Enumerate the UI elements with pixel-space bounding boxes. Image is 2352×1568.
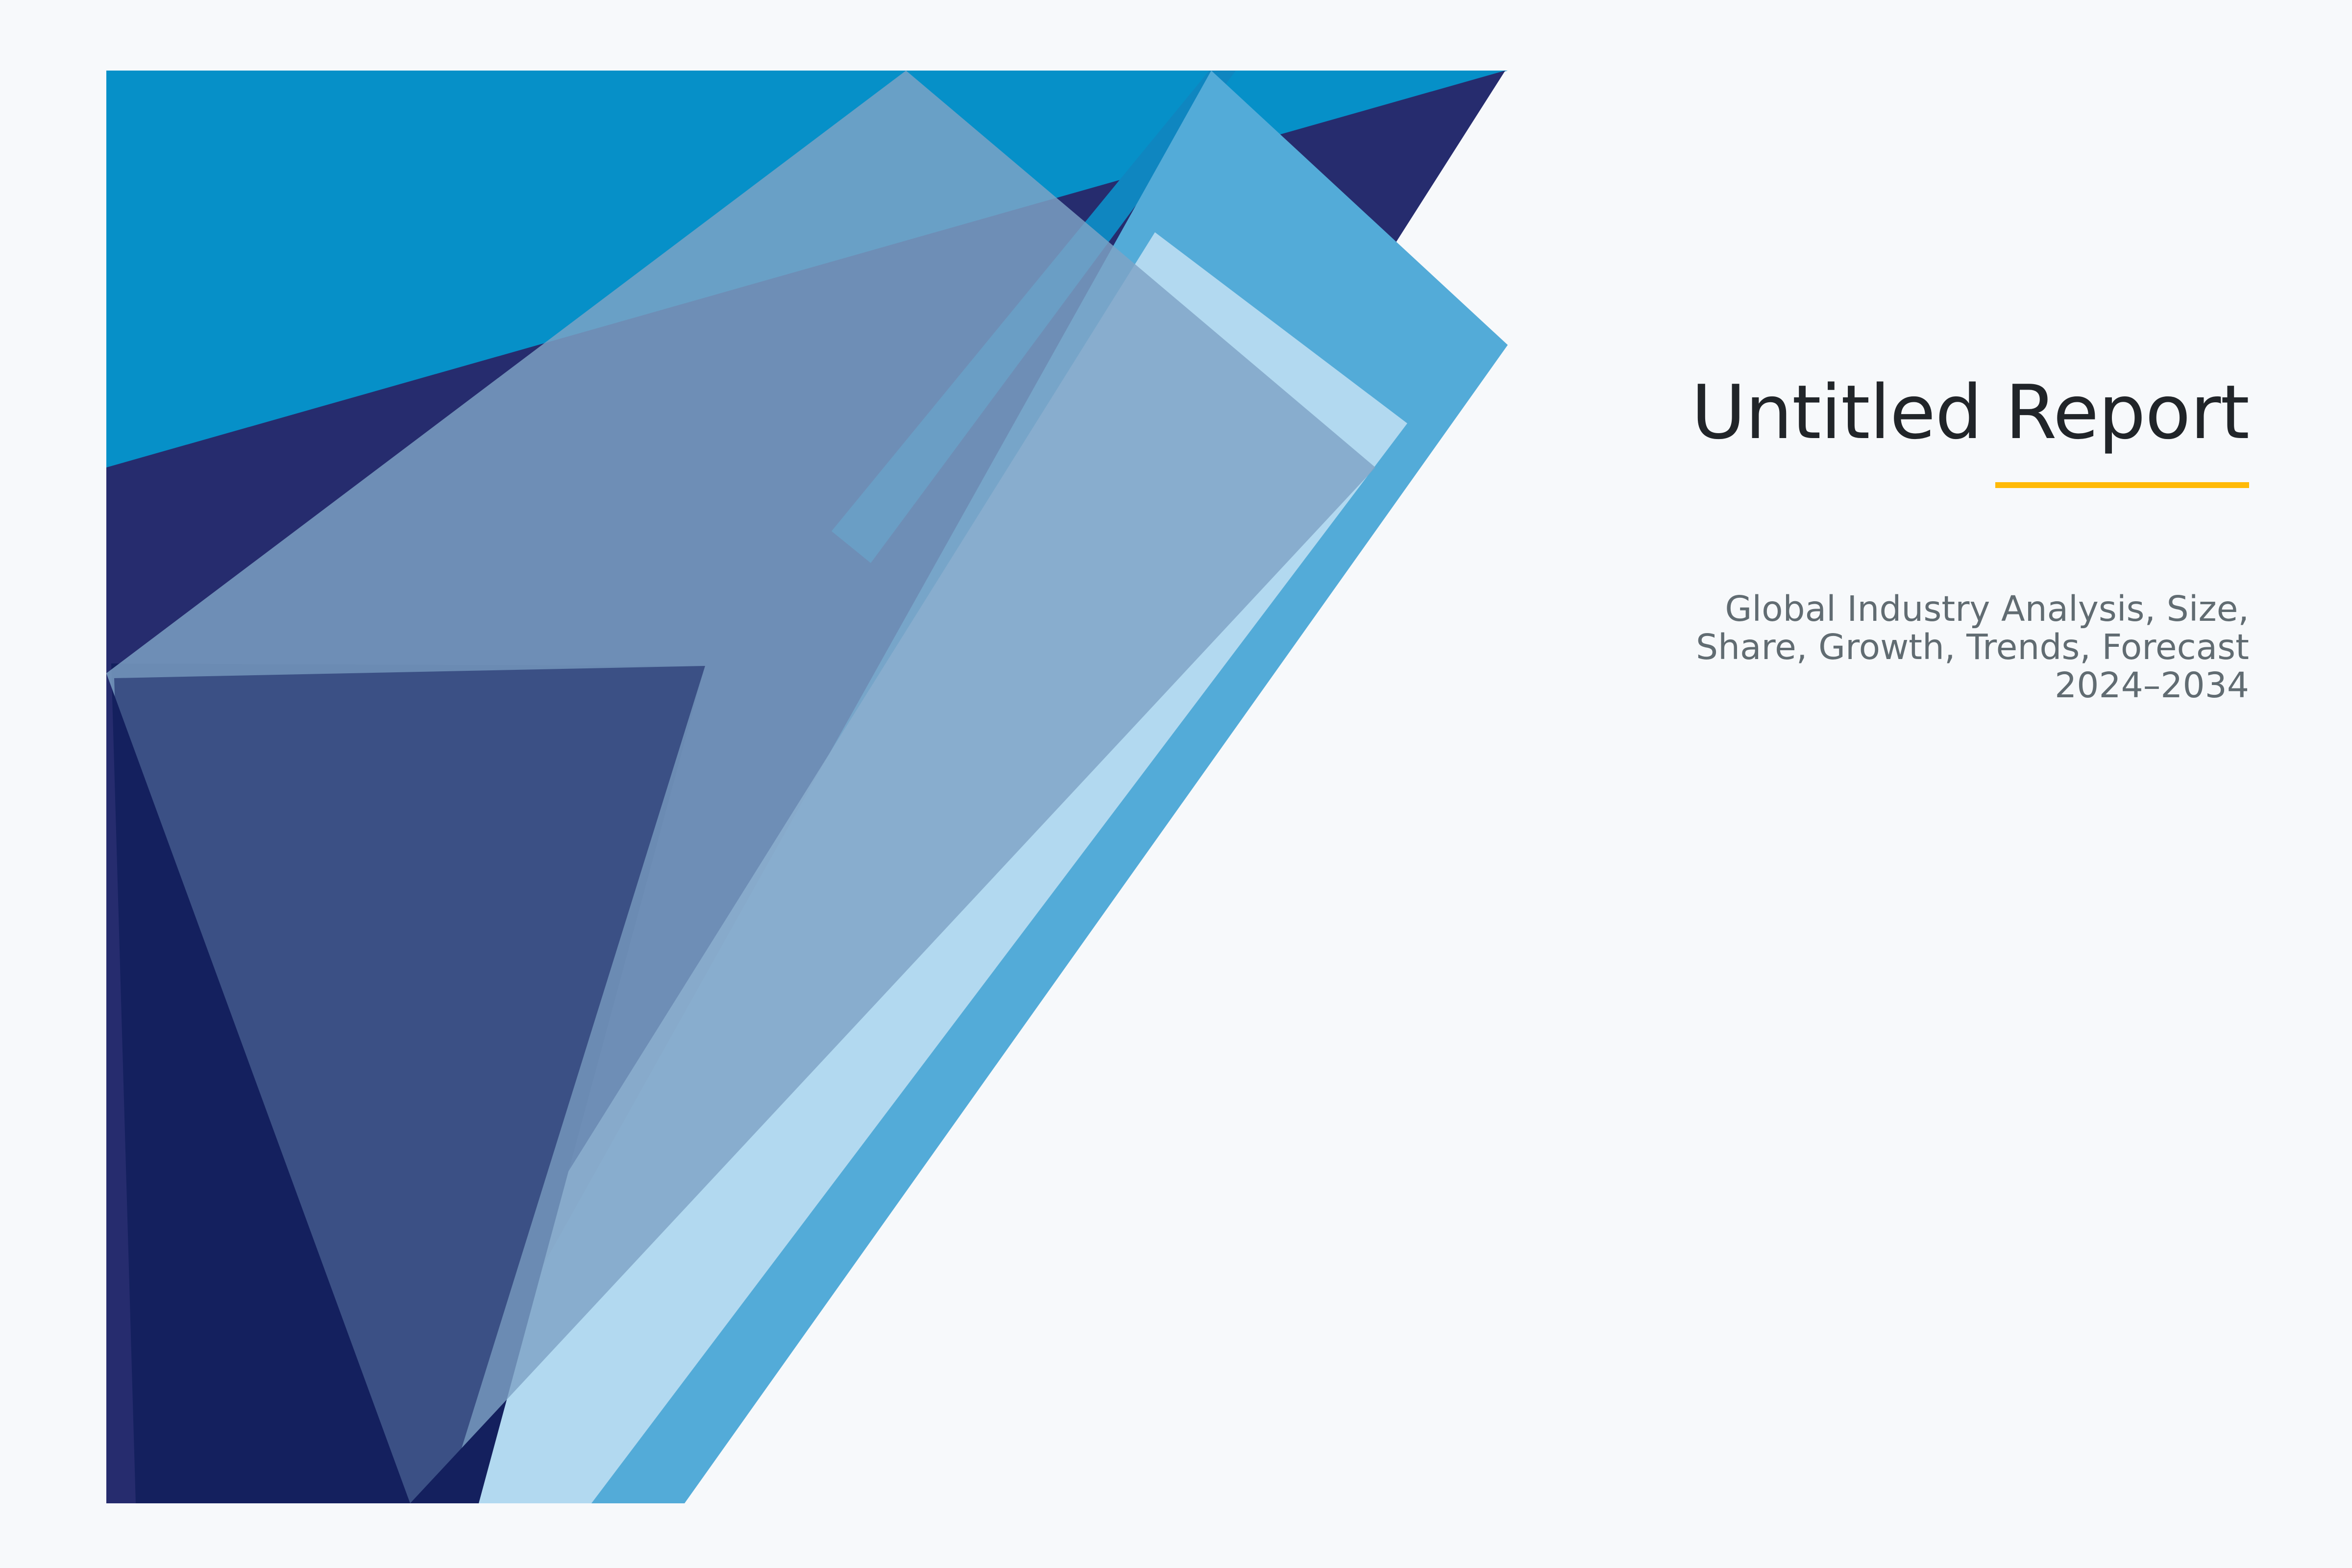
page-title: Untitled Report	[1519, 372, 2249, 453]
cover-artwork	[106, 71, 1508, 1503]
abstract-geometric-graphic	[106, 71, 1508, 1503]
report-cover-page: Untitled Report Global Industry Analysis…	[0, 0, 2352, 1568]
cover-text-block: Untitled Report Global Industry Analysis…	[1519, 372, 2249, 705]
page-subtitle: Global Industry Analysis, Size, Share, G…	[1637, 590, 2249, 705]
accent-rule	[1995, 482, 2249, 488]
